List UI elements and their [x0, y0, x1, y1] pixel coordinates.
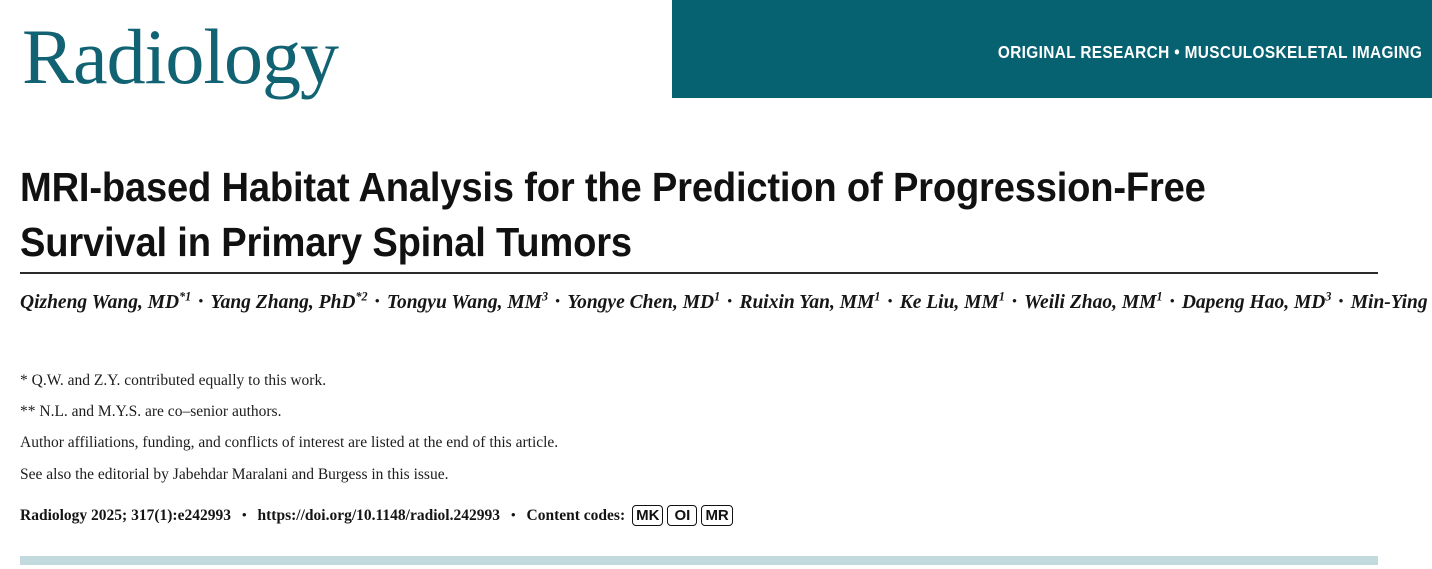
footnote-co-senior-authors: ** N.L. and M.Y.S. are co–senior authors… — [20, 403, 281, 421]
author-separator-bullet: • — [1163, 294, 1182, 310]
footnote-affiliations: Author affiliations, funding, and confli… — [20, 434, 558, 452]
author-affiliation-marker: *1 — [179, 289, 191, 303]
author-list: Qizheng Wang, MD*1•Yang Zhang, PhD*2•Ton… — [20, 288, 1390, 317]
author-separator-bullet: • — [1331, 294, 1350, 310]
author-separator-bullet: • — [191, 294, 210, 310]
author-entry[interactable]: Ke Liu, MM1 — [900, 292, 1005, 313]
page-title: MRI-based Habitat Analysis for the Predi… — [20, 160, 1257, 268]
author-name-text: Ke Liu, MM — [900, 292, 999, 313]
author-separator-bullet: • — [1005, 294, 1024, 310]
author-entry[interactable]: Yang Zhang, PhD*2 — [210, 292, 367, 313]
content-code-badge[interactable]: MR — [701, 505, 732, 526]
citation-reference: Radiology 2025; 317(1):e242993 — [20, 507, 231, 525]
citation-separator-1: • — [231, 507, 258, 523]
author-entry[interactable]: Dapeng Hao, MD3 — [1182, 292, 1332, 313]
author-name-text: Yang Zhang, PhD — [210, 292, 355, 313]
citation-line: Radiology 2025; 317(1):e242993 • https:/… — [20, 505, 733, 526]
author-separator-bullet: • — [720, 294, 739, 310]
author-entry[interactable]: Yongye Chen, MD1 — [567, 292, 720, 313]
content-code-badge[interactable]: OI — [667, 505, 697, 526]
author-entry[interactable]: Weili Zhao, MM1 — [1024, 292, 1162, 313]
content-codes-group: MKOIMR — [632, 505, 733, 526]
author-name-text: Ruixin Yan, MM — [739, 292, 874, 313]
author-entry[interactable]: Qizheng Wang, MD*1 — [20, 292, 191, 313]
author-separator-bullet: • — [368, 294, 387, 310]
author-entry[interactable]: Tongyu Wang, MM3 — [387, 292, 548, 313]
article-category-kicker: ORIGINAL RESEARCH • MUSCULOSKELETAL IMAG… — [998, 42, 1422, 63]
author-name-text: Qizheng Wang, MD — [20, 292, 179, 313]
author-affiliation-marker: 1 — [999, 289, 1005, 303]
content-code-badge[interactable]: MK — [632, 505, 663, 526]
citation-separator-2: • — [500, 507, 527, 523]
author-name-text: Min-Ying Su, PhD — [1351, 292, 1432, 313]
divider-above-authors — [20, 272, 1378, 274]
author-entry[interactable]: Min-Ying Su, PhD**4,5 — [1351, 292, 1432, 313]
divider-bottom — [20, 556, 1378, 565]
author-separator-bullet: • — [548, 294, 567, 310]
footnote-editorial-reference: See also the editorial by Jabehdar Maral… — [20, 466, 448, 484]
footnote-equal-contribution: * Q.W. and Z.Y. contributed equally to t… — [20, 372, 326, 390]
journal-logo: Radiology — [22, 18, 338, 96]
author-name-text: Tongyu Wang, MM — [387, 292, 542, 313]
author-entry[interactable]: Ruixin Yan, MM1 — [739, 292, 880, 313]
author-affiliation-marker: *2 — [356, 289, 368, 303]
author-name-text: Yongye Chen, MD — [567, 292, 714, 313]
author-separator-bullet: • — [880, 294, 899, 310]
author-affiliation-marker: 1 — [1157, 289, 1163, 303]
content-codes-label: Content codes: — [527, 507, 626, 525]
masthead-banner: ORIGINAL RESEARCH • MUSCULOSKELETAL IMAG… — [672, 0, 1432, 98]
author-name-text: Weili Zhao, MM — [1024, 292, 1156, 313]
author-name-text: Dapeng Hao, MD — [1182, 292, 1326, 313]
doi-link[interactable]: https://doi.org/10.1148/radiol.242993 — [258, 507, 500, 525]
